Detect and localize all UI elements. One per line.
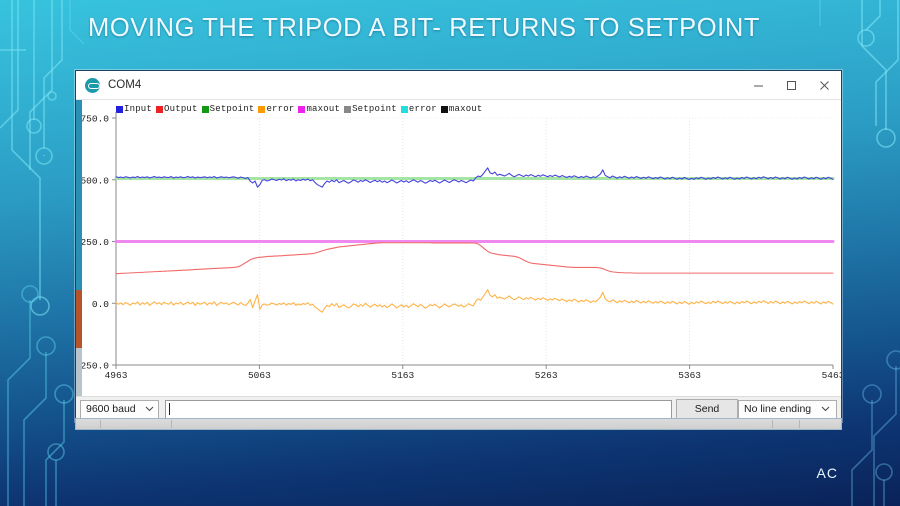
minimize-button[interactable] bbox=[742, 71, 775, 99]
plot-area: InputOutputSetpointerrormaxoutSetpointer… bbox=[76, 100, 841, 396]
x-tick-label: 5063 bbox=[248, 370, 271, 381]
minimize-icon bbox=[753, 80, 764, 91]
chevron-down-icon bbox=[817, 402, 833, 417]
serial-plot-chart: 750.0500.0250.00.0-250.04963506351635263… bbox=[76, 100, 841, 396]
page-title: MOVING THE TRIPOD A BIT- RETURNS TO SETP… bbox=[88, 14, 868, 43]
background-window-sliver bbox=[75, 418, 842, 430]
text-caret bbox=[169, 403, 170, 415]
x-tick-label: 5163 bbox=[391, 370, 414, 381]
arduino-infinity-icon bbox=[85, 78, 100, 93]
line-ending-select[interactable]: No line ending bbox=[738, 400, 837, 419]
maximize-button[interactable] bbox=[775, 71, 808, 99]
close-button[interactable] bbox=[808, 71, 841, 99]
x-tick-label: 5263 bbox=[535, 370, 558, 381]
window-titlebar: COM4 bbox=[76, 71, 841, 100]
baud-rate-value: 9600 baud bbox=[86, 403, 136, 415]
left-overflow-strip bbox=[76, 100, 86, 396]
baud-rate-select[interactable]: 9600 baud bbox=[80, 400, 159, 419]
window-title: COM4 bbox=[108, 79, 141, 91]
series-line-output bbox=[116, 243, 833, 274]
line-ending-value: No line ending bbox=[744, 403, 811, 415]
close-icon bbox=[819, 80, 830, 91]
window-controls bbox=[742, 71, 841, 99]
series-line-error bbox=[116, 290, 833, 312]
send-input[interactable] bbox=[165, 400, 672, 419]
send-button[interactable]: Send bbox=[676, 399, 738, 419]
y-tick-label: 0.0 bbox=[92, 299, 109, 310]
serial-plotter-window: COM4 bbox=[75, 70, 842, 422]
x-tick-label: 5363 bbox=[678, 370, 701, 381]
presentation-slide: MOVING THE TRIPOD A BIT- RETURNS TO SETP… bbox=[0, 0, 900, 506]
x-tick-label: 4963 bbox=[105, 370, 128, 381]
chevron-down-icon bbox=[142, 402, 158, 417]
maximize-icon bbox=[786, 80, 797, 91]
x-tick-label: 5463 bbox=[822, 370, 841, 381]
author-initials: AC bbox=[817, 465, 838, 481]
